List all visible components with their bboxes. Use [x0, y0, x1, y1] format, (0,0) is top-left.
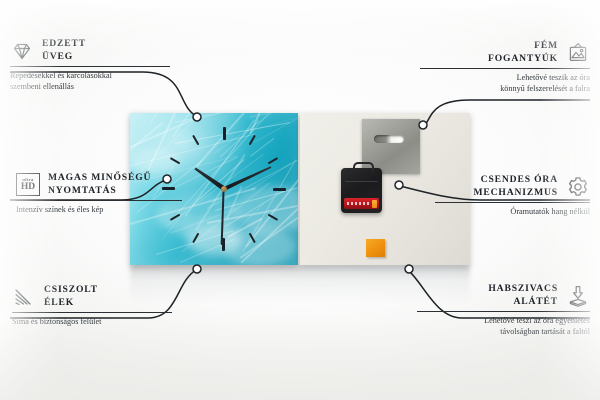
feature-subtitle-line2: távolságban tartását a faltól — [405, 327, 590, 338]
feature-csendes-ora-mechanizmus: CSENDES ÓRA MECHANIZMUS Óramutatók hang … — [425, 174, 590, 218]
feature-header: ultra HD MAGAS MINŐSÉGŰ NYOMTATÁS — [16, 172, 201, 197]
feature-header: CSENDES ÓRA MECHANIZMUS — [425, 174, 590, 199]
feature-subtitle-line2: könnyű felszerelését a falra — [408, 84, 590, 95]
hanger-keyhole-slot — [374, 135, 404, 143]
ultra-hd-icon: ultra HD — [16, 173, 40, 196]
feature-title: MAGAS MINŐSÉGŰ NYOMTATÁS — [48, 172, 151, 197]
infographic-canvas: EDZETT ÜVEG Repedésekkel és karcolásokka… — [0, 0, 600, 400]
feature-subtitle-line1: Sima és biztonságos felület — [12, 317, 187, 328]
feature-rule — [435, 202, 590, 203]
feature-subtitle-line2: szembeni ellenállás — [10, 82, 185, 93]
feature-rule — [417, 311, 590, 312]
feature-csiszolt-elek: CSISZOLT ÉLEK Sima és biztonságos felüle… — [12, 284, 187, 328]
feature-subtitle-line1: Repedésekkel és karcolásokkal — [10, 71, 185, 82]
foam-spacer-pad — [366, 239, 385, 257]
feature-edzett-uveg: EDZETT ÜVEG Repedésekkel és karcolásokka… — [10, 38, 185, 92]
diamond-icon — [10, 39, 34, 63]
feature-header: EDZETT ÜVEG — [10, 38, 185, 63]
feature-title: EDZETT ÜVEG — [42, 38, 86, 63]
clock-tick — [223, 127, 225, 189]
clock-hub — [221, 186, 227, 192]
feature-title: FÉM FOGANTYÚK — [488, 40, 558, 65]
quartz-mechanism — [341, 168, 382, 213]
feature-magas-minosegu-nyomtatas: ultra HD MAGAS MINŐSÉGŰ NYOMTATÁS Intenz… — [16, 172, 201, 216]
feature-title: HABSZIVACS ALÁTÉT — [488, 283, 558, 308]
gear-icon — [566, 175, 590, 199]
wall-mount-icon — [566, 41, 590, 65]
clock-tick — [224, 188, 286, 190]
feature-header: HABSZIVACS ALÁTÉT — [405, 283, 590, 308]
feature-title: CSENDES ÓRA MECHANIZMUS — [473, 174, 558, 199]
feature-habszivacs-alatet: HABSZIVACS ALÁTÉT Lehetővé teszi az óra … — [405, 283, 590, 337]
feature-rule — [10, 66, 170, 67]
foam-pad-icon — [566, 284, 590, 308]
feature-header: FÉM FOGANTYÚK — [408, 40, 590, 65]
feature-header: CSISZOLT ÉLEK — [12, 284, 187, 309]
mechanism-seam — [345, 181, 378, 182]
feature-subtitle-line1: Intenzív színek és éles kép — [16, 205, 201, 216]
polished-edges-icon — [12, 285, 36, 309]
feature-rule — [420, 68, 590, 69]
mechanism-hanging-loop — [353, 162, 374, 173]
feature-rule — [16, 200, 182, 201]
feature-fem-fogantyuk: FÉM FOGANTYÚK Lehetővé teszik az óra kön… — [408, 40, 590, 94]
battery — [344, 198, 379, 209]
ultra-hd-icon-bottom: HD — [21, 182, 35, 192]
feature-subtitle-line1: Lehetővé teszi az óra egyenletes — [405, 316, 590, 327]
feature-title: CSISZOLT ÉLEK — [44, 284, 98, 309]
feature-subtitle-line1: Óramutatók hang nélkül — [425, 207, 590, 218]
feature-rule — [12, 312, 172, 313]
feature-subtitle-line1: Lehetővé teszik az óra — [408, 73, 590, 84]
